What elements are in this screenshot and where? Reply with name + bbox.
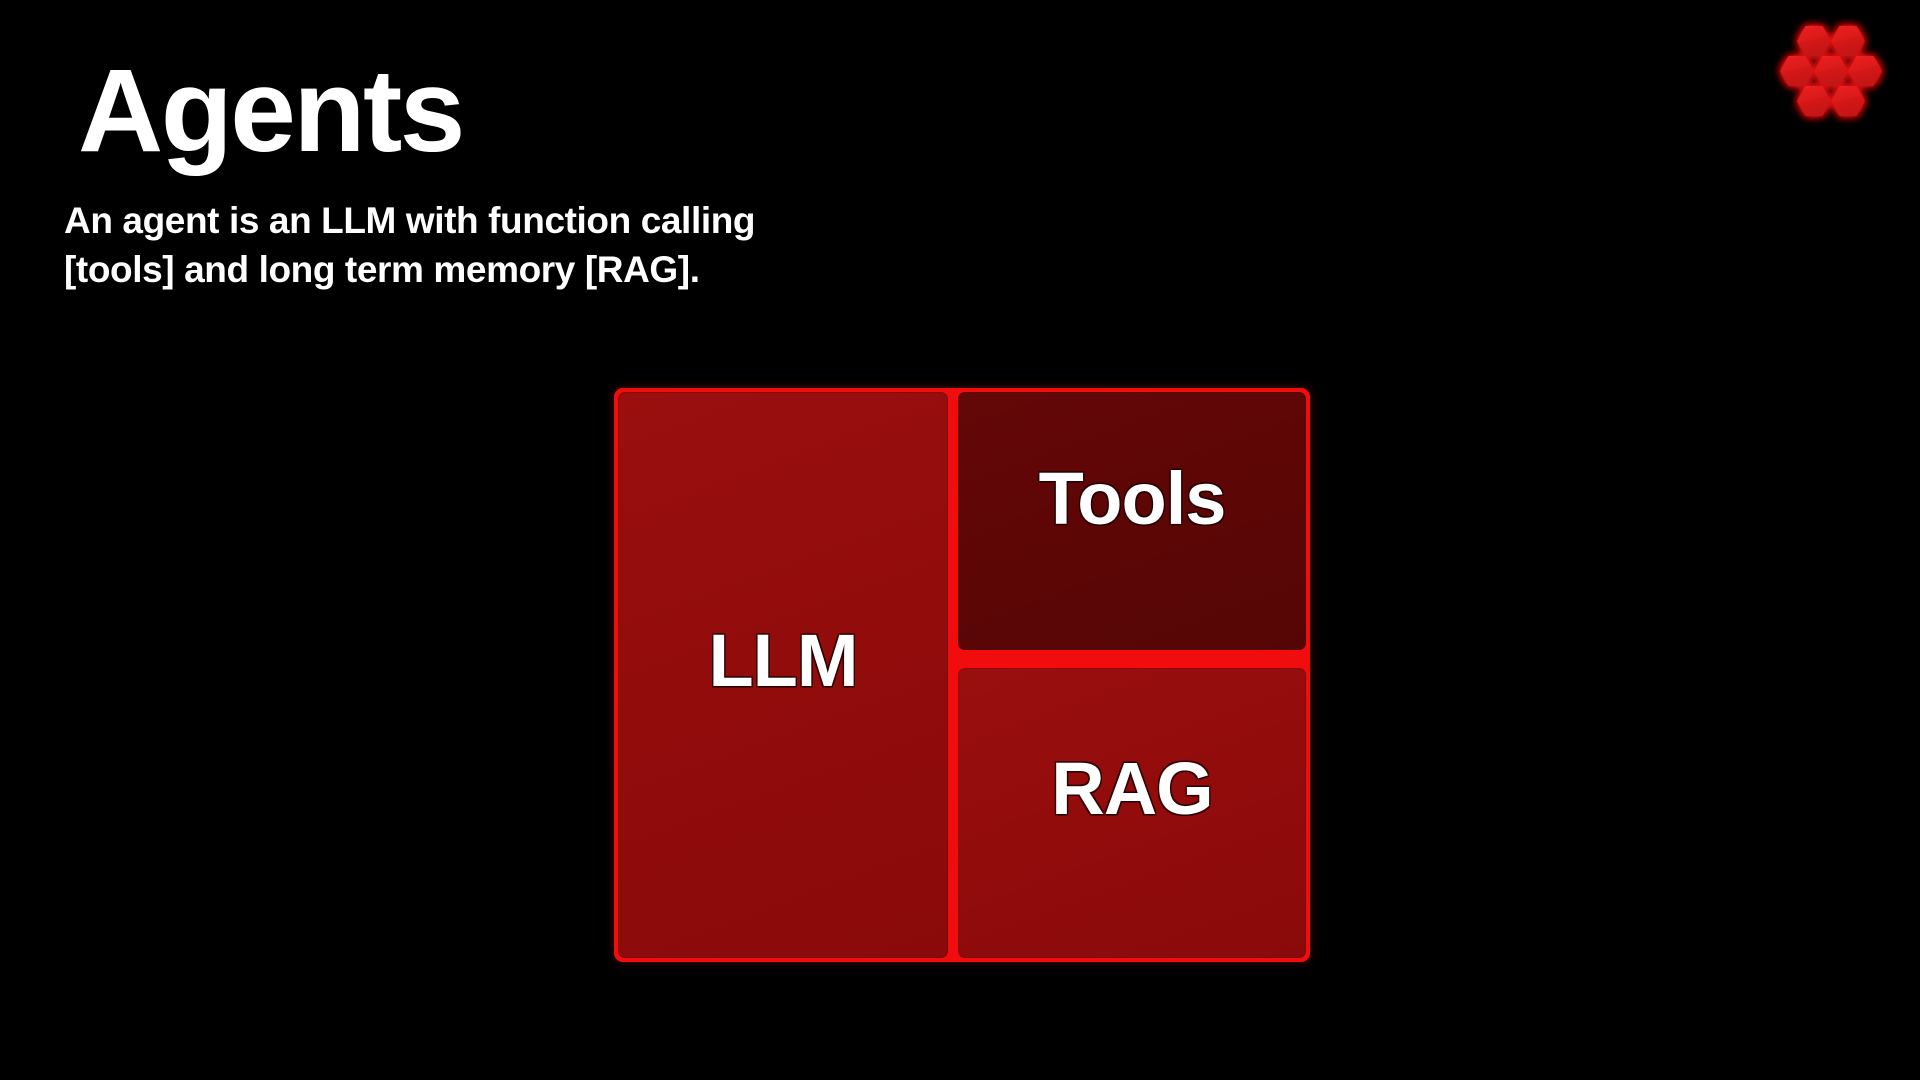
page-title: Agents xyxy=(78,52,1078,170)
diagram-panel-tools-label: Tools xyxy=(1039,462,1226,536)
subtitle-line-1: An agent is an LLM with function calling xyxy=(64,196,1078,245)
subtitle: An agent is an LLM with function calling… xyxy=(64,196,1078,294)
diagram-right-column: Tools RAG xyxy=(958,392,1306,958)
subtitle-line-2: [tools] and long term memory [RAG]. xyxy=(64,245,1078,294)
diagram-panel-rag-label: RAG xyxy=(1051,752,1212,826)
slide-canvas: Agents An agent is an LLM with function … xyxy=(0,0,1920,1080)
diagram-panel-tools[interactable]: Tools xyxy=(958,392,1306,650)
honeycomb-logo-icon xyxy=(1772,18,1890,133)
diagram-panel-llm-label: LLM xyxy=(708,624,857,698)
agent-architecture-diagram: LLM Tools RAG xyxy=(614,388,1310,962)
diagram-panel-rag[interactable]: RAG xyxy=(958,668,1306,958)
diagram-panel-llm[interactable]: LLM xyxy=(618,392,948,958)
heading-block: Agents An agent is an LLM with function … xyxy=(78,52,1078,294)
honeycomb-logo xyxy=(1772,18,1890,133)
